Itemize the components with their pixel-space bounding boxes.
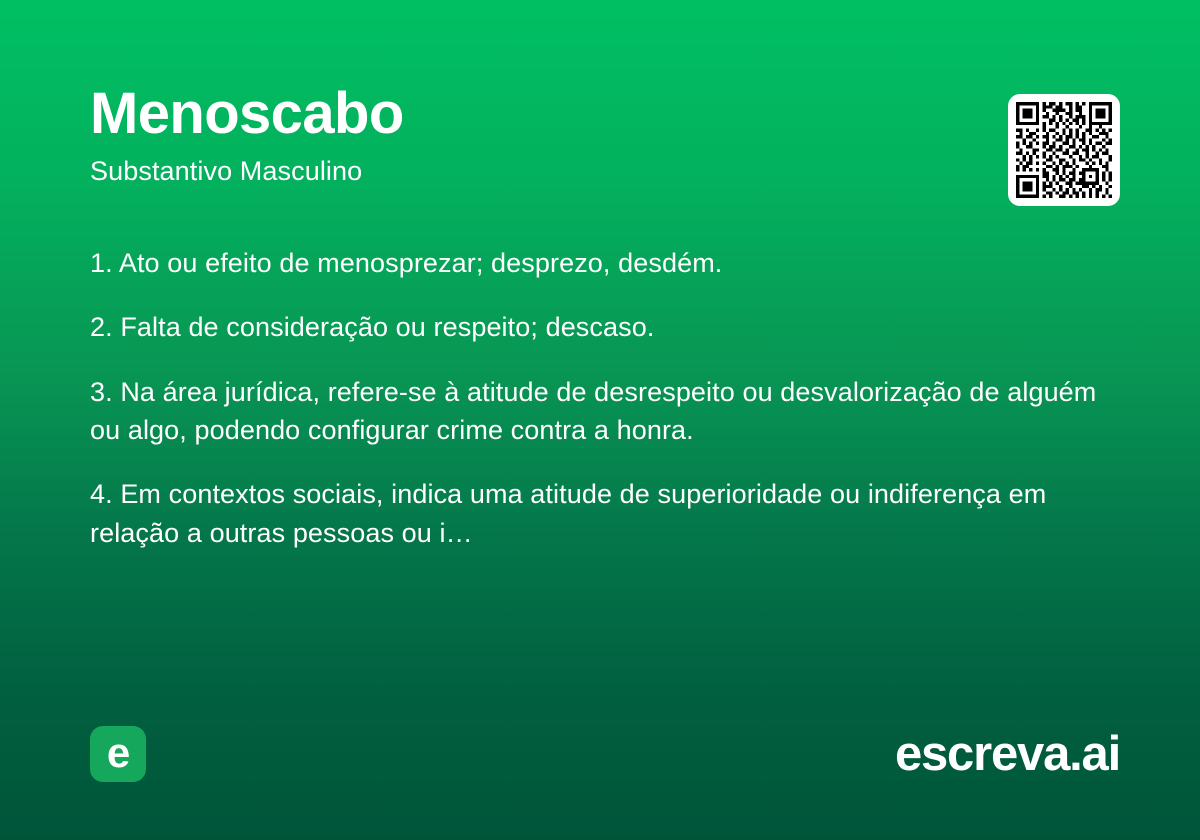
page-title: Menoscabo xyxy=(90,84,1110,145)
definition-list: 1. Ato ou efeito de menosprezar; desprez… xyxy=(90,244,1100,552)
definition-card: Menoscabo Substantivo Masculino xyxy=(0,0,1200,840)
list-item: 1. Ato ou efeito de menosprezar; desprez… xyxy=(90,244,1100,282)
escreva-logo-icon: e xyxy=(90,726,146,782)
list-item: 4. Em contextos sociais, indica uma atit… xyxy=(90,475,1100,552)
qr-code[interactable] xyxy=(1008,94,1120,206)
word-class-label: Substantivo Masculino xyxy=(90,155,1110,187)
card-header: Menoscabo Substantivo Masculino xyxy=(90,84,1110,187)
card-footer: e escreva.ai xyxy=(90,724,1120,784)
list-item: 3. Na área jurídica, refere-se à atitude… xyxy=(90,373,1100,450)
list-item: 2. Falta de consideração ou respeito; de… xyxy=(90,308,1100,346)
logo-letter: e xyxy=(107,732,129,774)
brand-name: escreva.ai xyxy=(895,730,1120,779)
qr-code-icon xyxy=(1016,102,1112,198)
